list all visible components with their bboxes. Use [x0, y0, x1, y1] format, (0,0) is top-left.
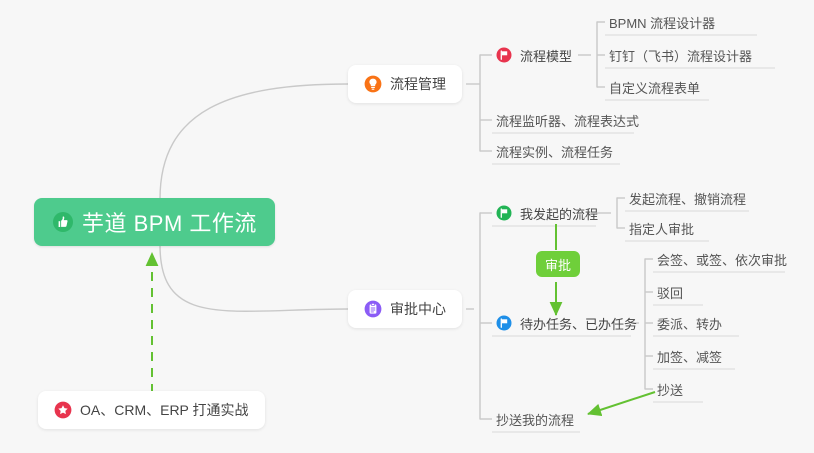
node-reject[interactable]: 驳回: [651, 279, 689, 305]
root-node-label: 芋道 BPM 工作流: [82, 206, 257, 238]
connector-root-to-approval-center: [160, 245, 348, 311]
node-add-remove-sign-label: 加签、减签: [657, 347, 722, 366]
flag-green-icon: [496, 205, 512, 221]
node-todo-done-tasks-label: 待办任务、已办任务: [520, 314, 637, 333]
node-add-remove-sign[interactable]: 加签、减签: [651, 343, 728, 369]
branch-process-management[interactable]: 流程管理: [348, 65, 462, 103]
node-carbon-copy[interactable]: 抄送: [651, 376, 689, 402]
arrow-cc-to-my-cc: [588, 392, 655, 414]
node-cc-to-me-processes[interactable]: 抄送我的流程: [490, 406, 580, 432]
free-node-oa-crm-erp[interactable]: OA、CRM、ERP 打通实战: [38, 391, 265, 429]
connector-root-to-process-management: [160, 84, 348, 199]
node-start-cancel-process-label: 发起流程、撤销流程: [629, 189, 746, 208]
node-todo-done-tasks[interactable]: 待办任务、已办任务: [490, 310, 643, 336]
free-node-label: OA、CRM、ERP 打通实战: [80, 400, 249, 420]
node-delegate-transfer[interactable]: 委派、转办: [651, 310, 728, 336]
node-dingtalk-feishu-designer[interactable]: 钉钉（飞书）流程设计器: [603, 42, 758, 68]
node-process-listener-expression-label: 流程监听器、流程表达式: [496, 111, 639, 130]
flag-red-icon: [496, 47, 512, 63]
node-custom-process-form[interactable]: 自定义流程表单: [603, 74, 706, 100]
branch-process-management-label: 流程管理: [390, 74, 446, 94]
node-process-instance-task[interactable]: 流程实例、流程任务: [490, 138, 619, 164]
node-start-cancel-process[interactable]: 发起流程、撤销流程: [623, 185, 752, 211]
branch-approval-center-label: 审批中心: [390, 299, 446, 319]
node-my-started-processes[interactable]: 我发起的流程: [490, 200, 604, 226]
doc-purple-icon: [364, 300, 382, 318]
branch-approval-center[interactable]: 审批中心: [348, 290, 462, 328]
annotation-pill-approval-label: 审批: [545, 255, 571, 274]
node-delegate-transfer-label: 委派、转办: [657, 314, 722, 333]
node-dingtalk-feishu-designer-label: 钉钉（飞书）流程设计器: [609, 46, 752, 65]
mindmap-canvas: 芋道 BPM 工作流 OA、CRM、ERP 打通实战 流程管理: [0, 0, 814, 453]
node-process-model-label: 流程模型: [520, 46, 572, 65]
node-countersign-orsign-sequential-label: 会签、或签、依次审批: [657, 250, 787, 269]
node-custom-process-form-label: 自定义流程表单: [609, 78, 700, 97]
node-my-started-processes-label: 我发起的流程: [520, 204, 598, 223]
node-bpmn-designer[interactable]: BPMN 流程设计器: [603, 9, 721, 35]
node-countersign-orsign-sequential[interactable]: 会签、或签、依次审批: [651, 246, 793, 272]
node-process-listener-expression[interactable]: 流程监听器、流程表达式: [490, 107, 645, 133]
node-reject-label: 驳回: [657, 283, 683, 302]
node-assignee-approval[interactable]: 指定人审批: [623, 215, 700, 241]
node-carbon-copy-label: 抄送: [657, 380, 683, 399]
thumbs-up-icon: [52, 211, 74, 233]
root-node[interactable]: 芋道 BPM 工作流: [34, 198, 275, 246]
node-bpmn-designer-label: BPMN 流程设计器: [609, 13, 715, 32]
flag-blue-icon: [496, 315, 512, 331]
node-assignee-approval-label: 指定人审批: [629, 219, 694, 238]
star-icon: [54, 401, 72, 419]
lightbulb-icon: [364, 75, 382, 93]
node-process-model[interactable]: 流程模型: [490, 42, 578, 68]
node-process-instance-task-label: 流程实例、流程任务: [496, 142, 613, 161]
annotation-pill-approval[interactable]: 审批: [536, 251, 580, 277]
node-cc-to-me-processes-label: 抄送我的流程: [496, 410, 574, 429]
